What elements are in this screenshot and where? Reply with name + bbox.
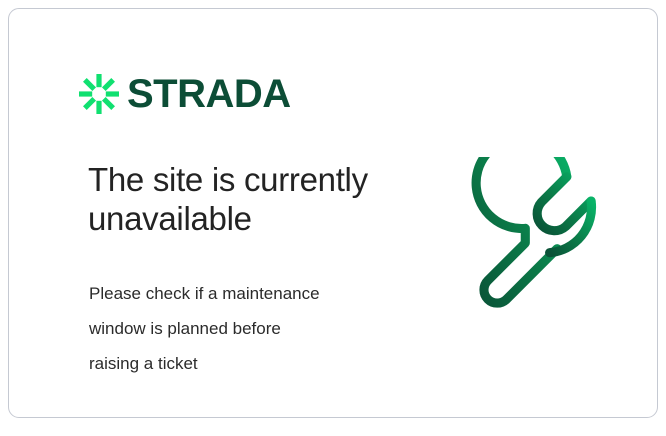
description-line: raising a ticket xyxy=(89,347,389,382)
wrench-icon xyxy=(461,157,623,321)
page-title: The site is currently unavailable xyxy=(88,161,428,238)
error-page: STRADA The site is currently unavailable… xyxy=(0,0,666,436)
brand-wordmark: STRADA xyxy=(127,74,291,114)
status-card: STRADA The site is currently unavailable… xyxy=(8,8,658,418)
strada-asterisk-icon xyxy=(79,74,119,114)
brand-logo: STRADA xyxy=(79,74,291,114)
description-line: window is planned before xyxy=(89,312,389,347)
description-line: Please check if a maintenance xyxy=(89,277,389,312)
page-description: Please check if a maintenance window is … xyxy=(89,277,389,382)
